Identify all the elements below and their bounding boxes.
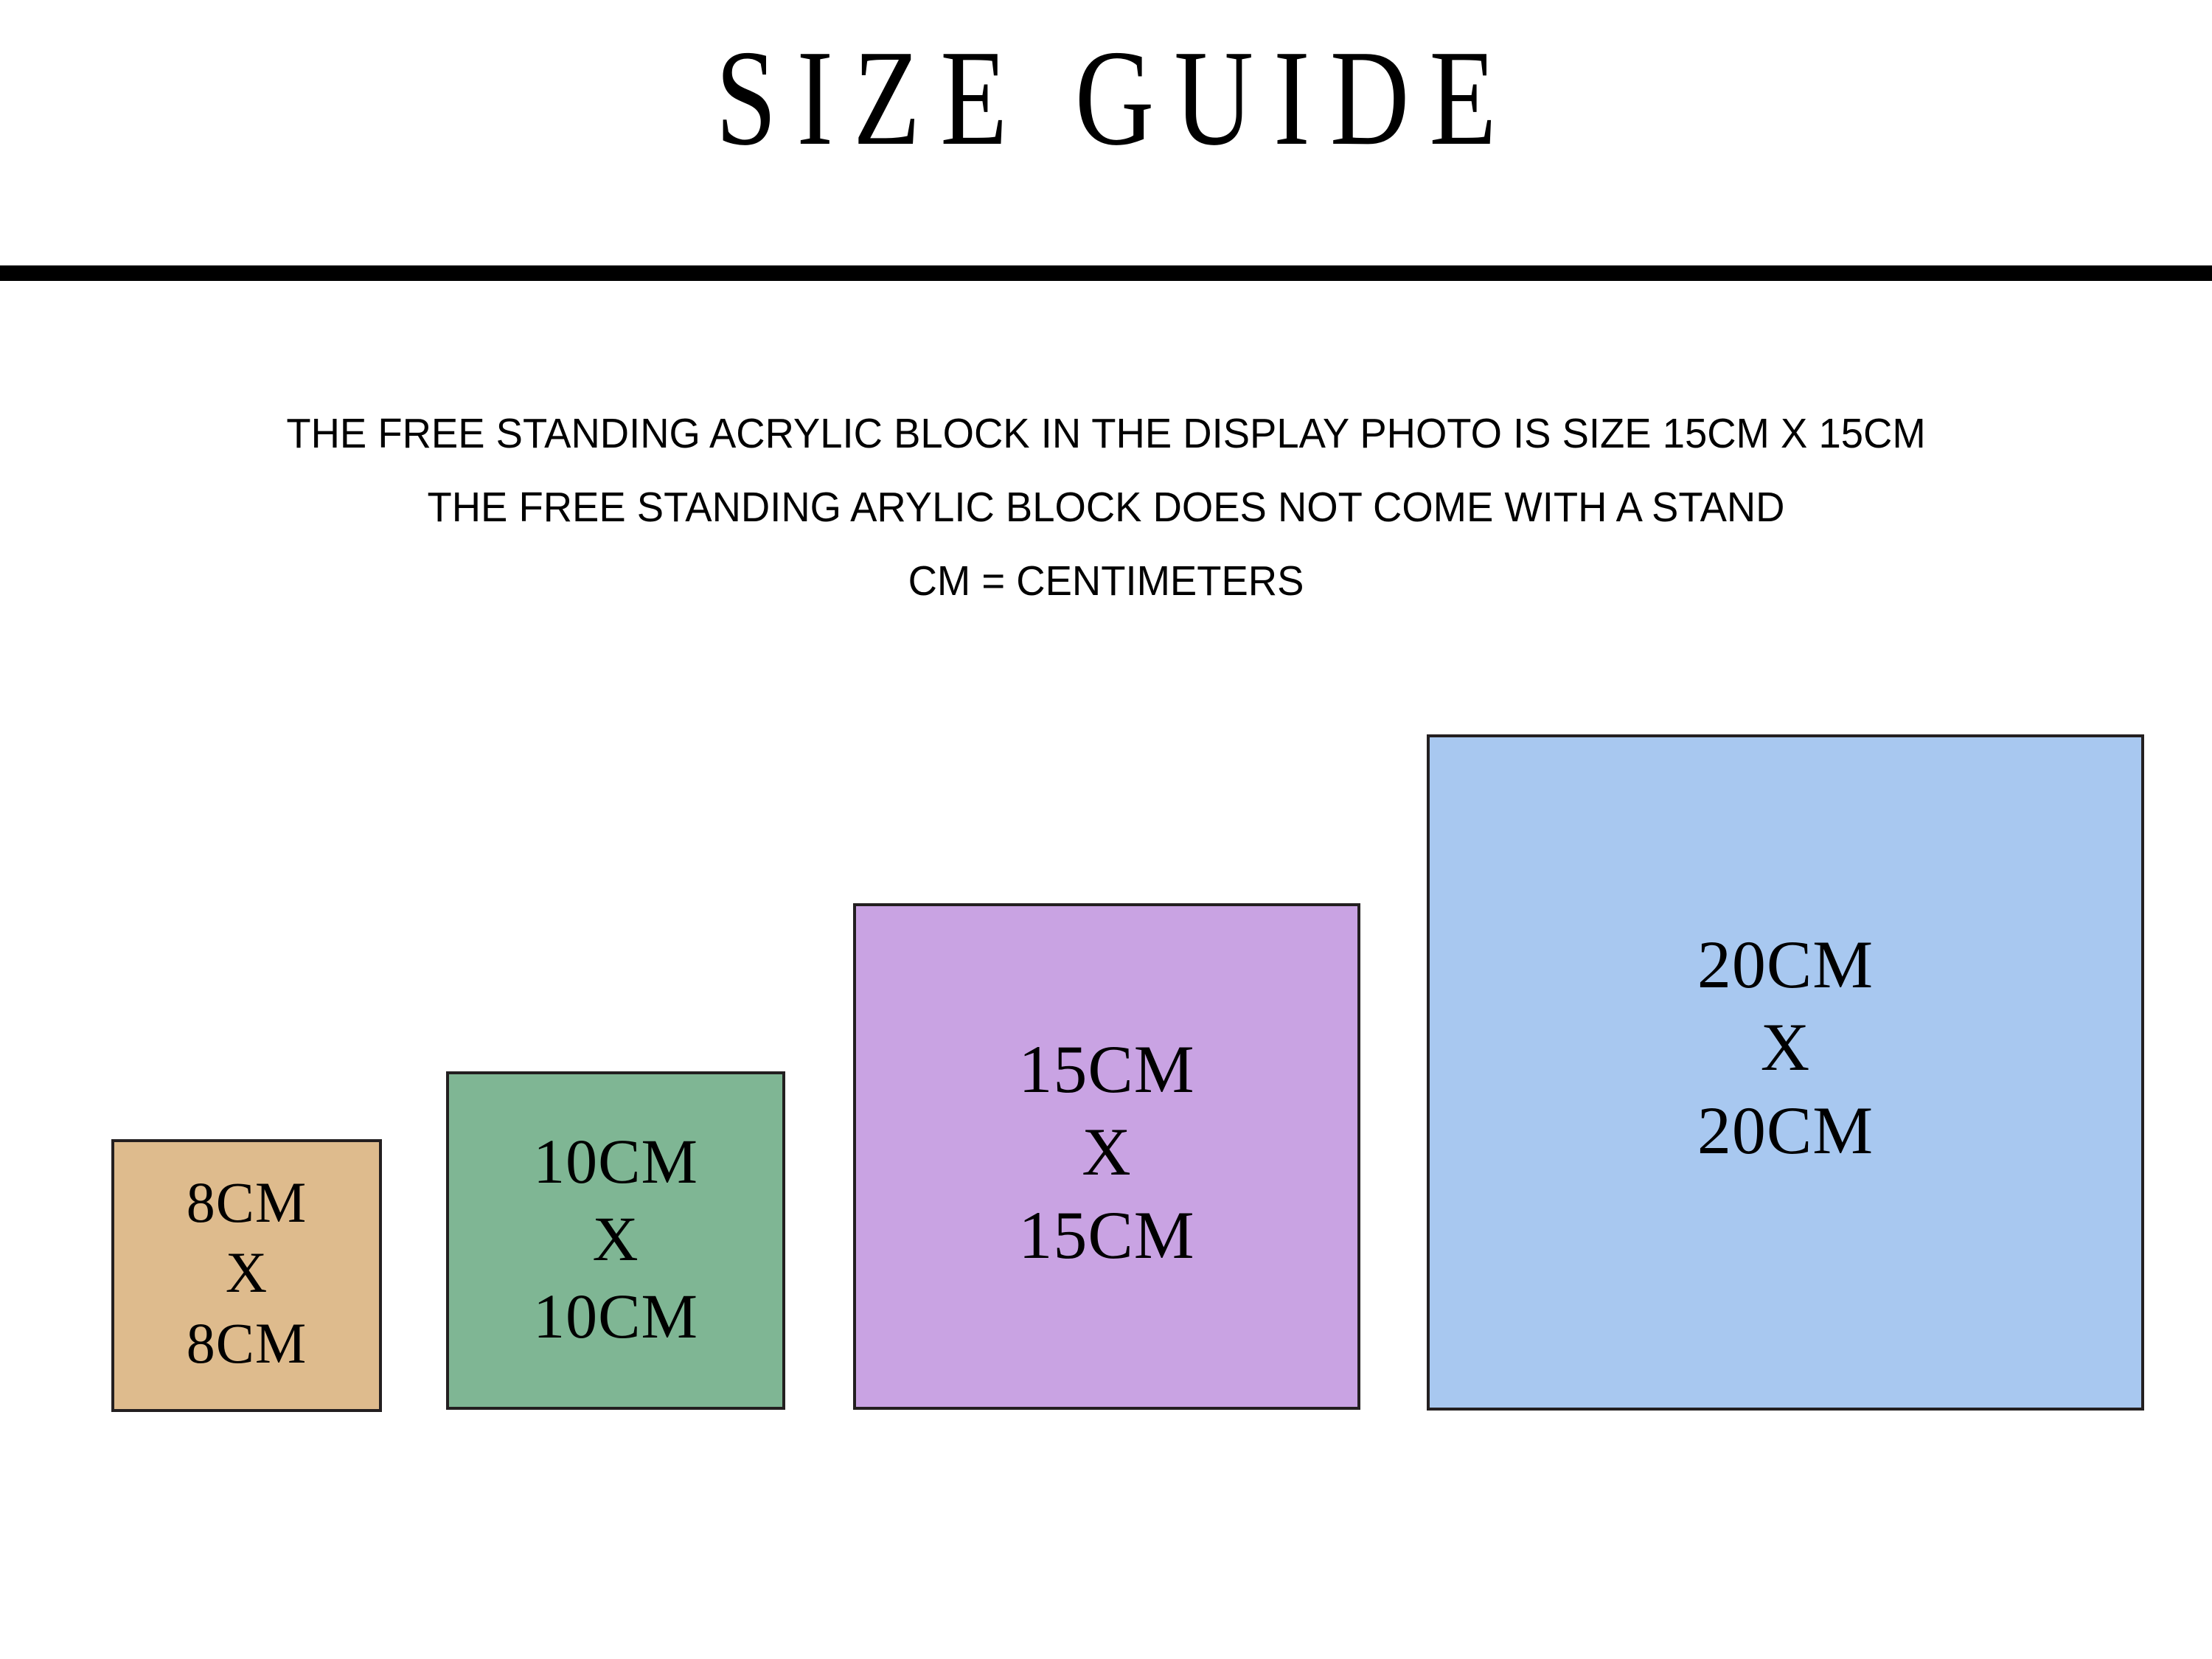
size-swatch-label-8cm: 8CM X 8CM: [187, 1167, 307, 1377]
size-swatch-15cm: 15CM X 15CM: [853, 903, 1360, 1410]
size-swatch-label-15cm: 15CM X 15CM: [1018, 1028, 1194, 1276]
size-swatch-20cm: 20CM X 20CM: [1427, 734, 2144, 1411]
size-swatch-row: 8CM X 8CM 10CM X 10CM 15CM X 15CM 20CM X…: [0, 0, 2212, 1659]
size-swatch-label-20cm: 20CM X 20CM: [1697, 923, 1874, 1172]
size-swatch-10cm: 10CM X 10CM: [446, 1071, 785, 1410]
size-swatch-8cm: 8CM X 8CM: [111, 1139, 382, 1412]
size-swatch-label-10cm: 10CM X 10CM: [533, 1123, 698, 1355]
size-guide-page: SIZE GUIDE THE FREE STANDING ACRYLIC BLO…: [0, 0, 2212, 1659]
